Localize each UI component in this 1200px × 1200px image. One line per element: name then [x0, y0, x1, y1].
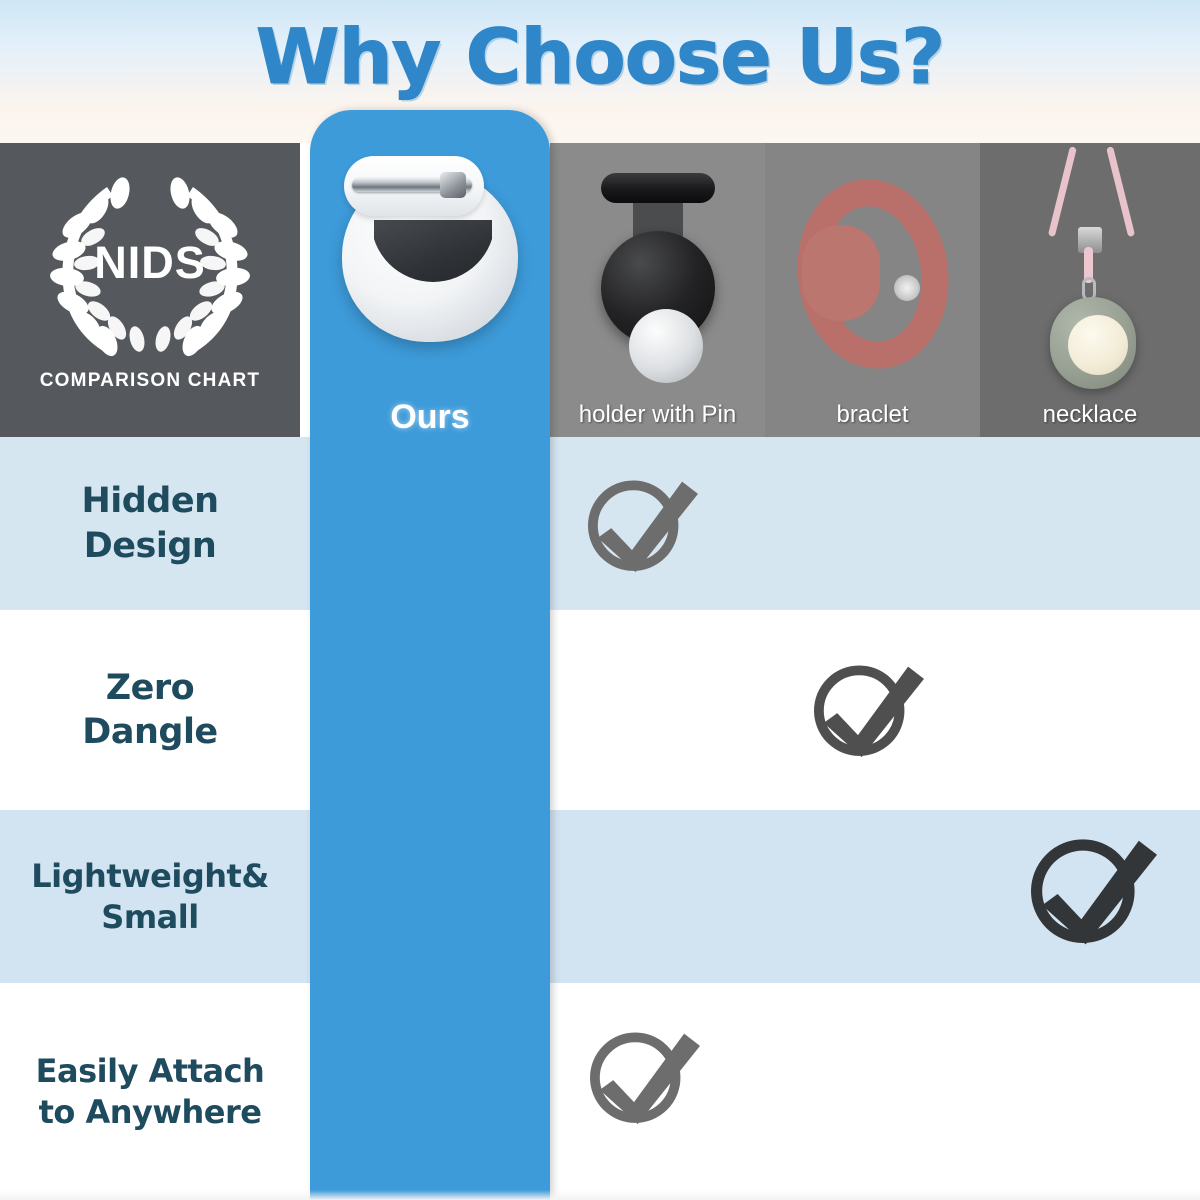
product-image-necklace [1020, 147, 1160, 397]
brand-name: NIDS [20, 237, 280, 289]
row-label-zero-dangle: ZeroDangle [0, 610, 300, 810]
row-label-line2: to Anywhere [39, 1093, 262, 1131]
highlighted-column-ours[interactable]: Ours [310, 110, 550, 1200]
column-label-necklace: necklace [980, 401, 1200, 429]
row-label-line1: Hidden [81, 481, 218, 521]
table-row: HiddenDesign [0, 437, 1200, 610]
check-icon-pin-row0 [580, 467, 706, 577]
page-title: Why Choose Us? [0, 12, 1200, 101]
check-icon-necklace-row2 [1022, 824, 1166, 950]
row-label-line2: Dangle [82, 712, 217, 752]
header-banner: Why Choose Us? [0, 0, 1200, 143]
product-image-ours [332, 146, 528, 342]
table-row: Easily Attachto Anywhere [0, 983, 1200, 1200]
product-image-bracelet [798, 179, 948, 369]
column-label-bracelet: braclet [765, 401, 980, 429]
table-row: Lightweight&Small [0, 810, 1200, 983]
row-label-lightweight-small: Lightweight&Small [0, 810, 300, 983]
table-header-row: NIDS COMPARISON CHART holder with Pin br… [0, 143, 1200, 437]
row-label-easily-attach: Easily Attachto Anywhere [0, 983, 300, 1200]
column-label-pin: holder with Pin [550, 401, 765, 429]
brand-subtitle: COMPARISON CHART [20, 370, 280, 392]
row-label-line1: Easily Attach [36, 1052, 265, 1090]
row-label-hidden-design: HiddenDesign [0, 437, 300, 610]
column-header-necklace[interactable]: necklace [980, 143, 1200, 437]
brand-logo: NIDS COMPARISON CHART [20, 165, 280, 415]
row-label-line2: Small [101, 898, 198, 936]
column-header-pin[interactable]: holder with Pin [550, 143, 765, 437]
comparison-table: NIDS COMPARISON CHART holder with Pin br… [0, 143, 1200, 1200]
row-label-line1: Zero [106, 668, 194, 708]
column-header-bracelet[interactable]: braclet [765, 143, 980, 437]
brand-logo-cell: NIDS COMPARISON CHART [0, 143, 300, 437]
table-row: ZeroDangle [0, 610, 1200, 810]
column-label-ours: Ours [310, 398, 550, 437]
row-label-line2: Design [84, 526, 217, 566]
row-label-line1: Lightweight& [31, 857, 268, 895]
product-image-holder-with-pin [593, 173, 723, 373]
check-icon-pin-row3 [582, 1019, 708, 1129]
check-icon-bracelet-row1 [806, 652, 932, 762]
